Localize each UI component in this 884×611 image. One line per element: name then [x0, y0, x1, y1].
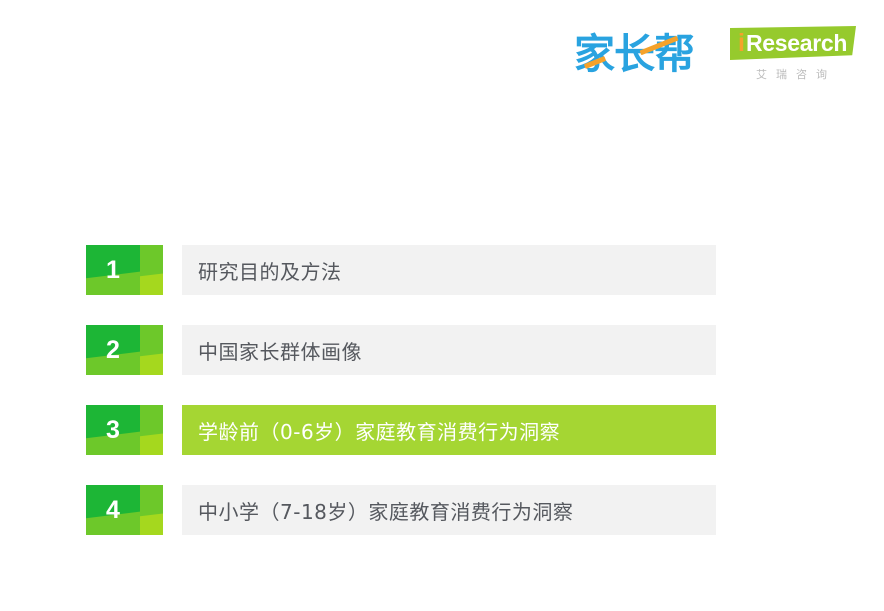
agenda-list: 1 研究目的及方法 2 中国家长群体画像 3: [86, 245, 806, 535]
header-logos: 家长帮 i Research 艾瑞咨询: [574, 26, 856, 82]
iresearch-logo-i: i: [738, 31, 745, 56]
jiazhangbang-logo: 家长帮: [574, 26, 716, 82]
iresearch-logo: i Research 艾瑞咨询: [730, 26, 856, 82]
badge-side-strip: [140, 405, 163, 455]
agenda-item-1[interactable]: 1 研究目的及方法: [86, 245, 806, 295]
iresearch-logo-subtitle: 艾瑞咨询: [730, 66, 856, 82]
agenda-number-badge: 4: [86, 485, 163, 535]
badge-side-strip-wedge: [140, 272, 163, 295]
agenda-number-badge: 2: [86, 325, 163, 375]
agenda-item-bar[interactable]: 学龄前（0-6岁）家庭教育消费行为洞察: [182, 405, 716, 455]
agenda-item-label: 中国家长群体画像: [198, 336, 362, 365]
iresearch-logo-badge: i Research: [730, 26, 856, 60]
badge-side-strip: [140, 325, 163, 375]
badge-side-strip: [140, 245, 163, 295]
agenda-item-label: 研究目的及方法: [198, 256, 342, 285]
badge-side-strip-wedge: [140, 352, 163, 375]
jiazhangbang-logo-text: 家长帮: [574, 26, 694, 82]
agenda-item-label: 学龄前（0-6岁）家庭教育消费行为洞察: [198, 416, 560, 445]
agenda-item-bar[interactable]: 研究目的及方法: [182, 245, 716, 295]
agenda-item-label: 中小学（7-18岁）家庭教育消费行为洞察: [198, 496, 573, 525]
badge-side-strip-wedge: [140, 512, 163, 535]
badge-side-strip: [140, 485, 163, 535]
agenda-item-4[interactable]: 4 中小学（7-18岁）家庭教育消费行为洞察: [86, 485, 806, 535]
iresearch-logo-wordmark: Research: [746, 32, 847, 55]
agenda-number-badge: 1: [86, 245, 163, 295]
agenda-item-bar[interactable]: 中国家长群体画像: [182, 325, 716, 375]
agenda-number-label: 1: [86, 245, 140, 295]
agenda-number-label: 4: [86, 485, 140, 535]
badge-side-strip-wedge: [140, 432, 163, 455]
agenda-number-label: 3: [86, 405, 140, 455]
agenda-item-3[interactable]: 3 学龄前（0-6岁）家庭教育消费行为洞察: [86, 405, 806, 455]
agenda-number-badge: 3: [86, 405, 163, 455]
agenda-number-label: 2: [86, 325, 140, 375]
agenda-item-2[interactable]: 2 中国家长群体画像: [86, 325, 806, 375]
agenda-item-bar[interactable]: 中小学（7-18岁）家庭教育消费行为洞察: [182, 485, 716, 535]
